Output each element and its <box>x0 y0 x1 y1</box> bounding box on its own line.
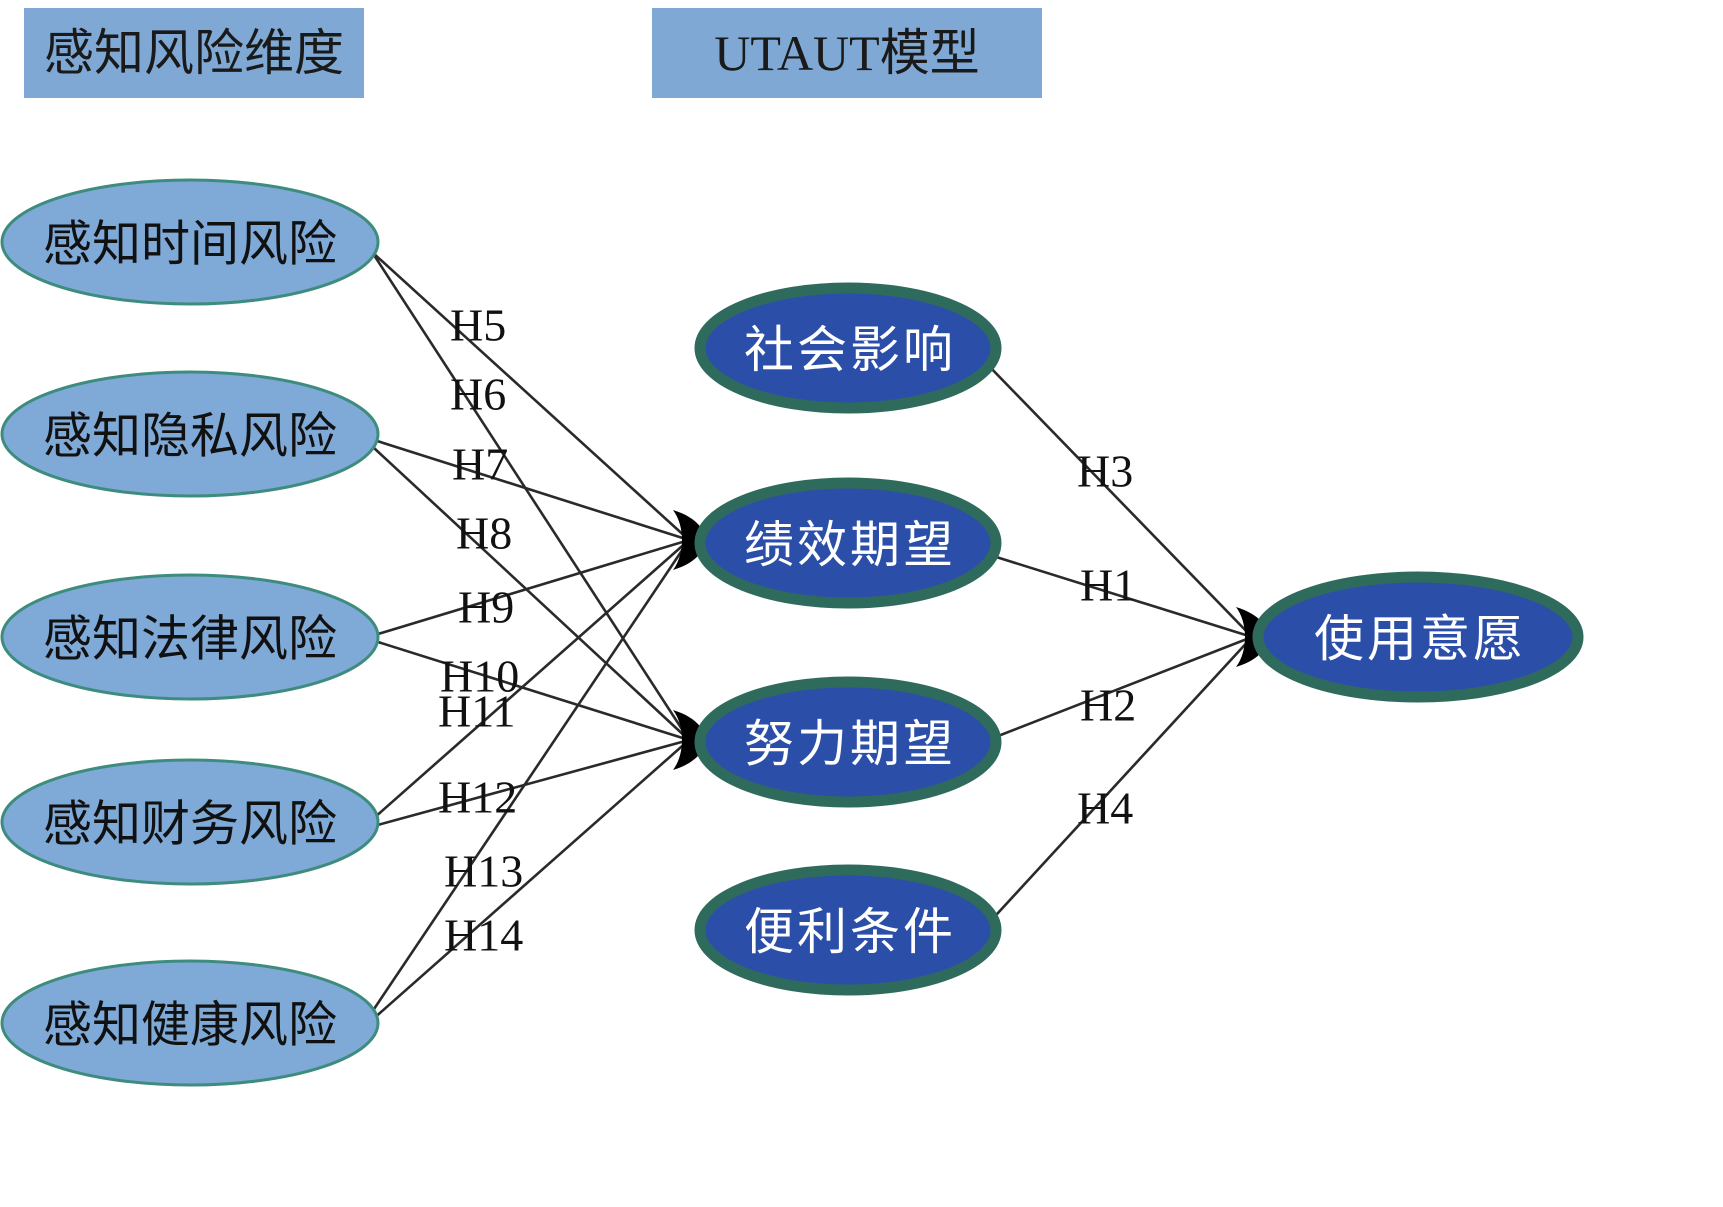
hypothesis-label-h14: H14 <box>444 910 523 961</box>
hypothesis-label-h6: H6 <box>450 369 506 420</box>
outcome-intention[interactable]: 使用意愿 <box>1258 577 1578 697</box>
hypothesis-label-h4: H4 <box>1077 783 1133 834</box>
hypothesis-label-h1: H1 <box>1080 560 1136 611</box>
risk-dimension-nodes: 感知时间风险感知隐私风险感知法律风险感知财务风险感知健康风险 <box>2 180 378 1085</box>
risk-time[interactable]: 感知时间风险 <box>2 180 378 304</box>
risk-legal-label: 感知法律风险 <box>43 612 337 667</box>
construct-facilitating[interactable]: 便利条件 <box>700 870 996 990</box>
construct-facilitating-label: 便利条件 <box>744 904 956 960</box>
construct-performance-label: 绩效期望 <box>744 517 956 573</box>
hypothesis-label-h9: H9 <box>458 582 514 633</box>
risk-time-label: 感知时间风险 <box>43 217 337 272</box>
header-risk-label: 感知风险维度 <box>44 25 344 81</box>
hypothesis-label-h11: H11 <box>438 686 516 737</box>
section-headers: 感知风险维度UTAUT模型 <box>24 8 1042 98</box>
risk-health[interactable]: 感知健康风险 <box>2 961 378 1085</box>
risk-finance-label: 感知财务风险 <box>43 797 337 852</box>
header-utaut: UTAUT模型 <box>652 8 1042 98</box>
header-utaut-label: UTAUT模型 <box>714 25 979 81</box>
outcome-node: 使用意愿 <box>1258 577 1578 697</box>
hypothesis-label-h2: H2 <box>1080 680 1136 731</box>
hypothesis-label-h3: H3 <box>1077 446 1133 497</box>
risk-health-label: 感知健康风险 <box>43 998 337 1053</box>
construct-performance[interactable]: 绩效期望 <box>700 483 996 603</box>
hypothesis-label-h8: H8 <box>456 508 512 559</box>
construct-effort[interactable]: 努力期望 <box>700 682 996 802</box>
hypothesis-label-h7: H7 <box>452 439 508 490</box>
construct-social[interactable]: 社会影响 <box>700 288 996 408</box>
construct-effort-label: 努力期望 <box>744 716 956 772</box>
nodes-layer: 感知风险维度UTAUT模型 感知时间风险感知隐私风险感知法律风险感知财务风险感知… <box>0 0 1723 1207</box>
hypothesis-label-h5: H5 <box>450 300 506 351</box>
risk-legal[interactable]: 感知法律风险 <box>2 575 378 699</box>
risk-privacy-label: 感知隐私风险 <box>43 409 337 464</box>
header-risk: 感知风险维度 <box>24 8 364 98</box>
hypothesis-label-h12: H12 <box>438 772 517 823</box>
risk-finance[interactable]: 感知财务风险 <box>2 760 378 884</box>
utaut-construct-nodes: 社会影响绩效期望努力期望便利条件 <box>700 288 996 990</box>
hypothesis-label-h13: H13 <box>444 846 523 897</box>
diagram-canvas: 感知风险维度UTAUT模型 感知时间风险感知隐私风险感知法律风险感知财务风险感知… <box>0 0 1723 1207</box>
outcome-intention-label: 使用意愿 <box>1314 611 1526 667</box>
risk-privacy[interactable]: 感知隐私风险 <box>2 372 378 496</box>
construct-social-label: 社会影响 <box>744 322 956 378</box>
